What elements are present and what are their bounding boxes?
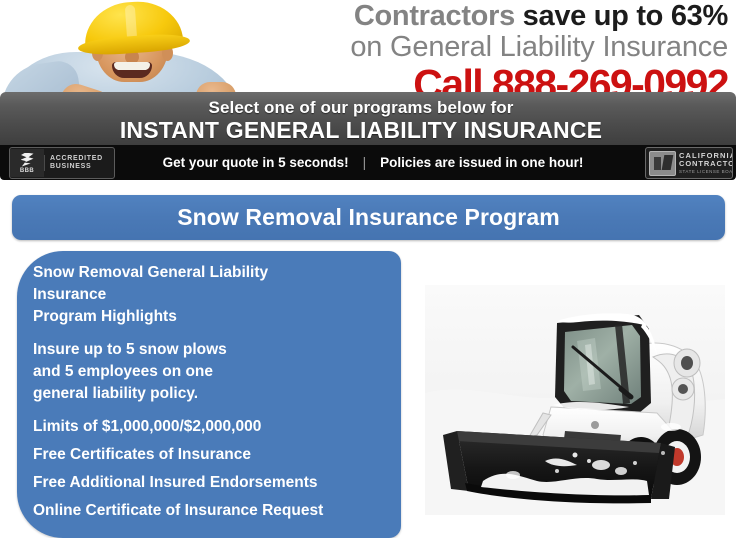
headline-contractors-text: Contractors (354, 0, 523, 32)
policy-speed-text: Policies are issued in one hour! (380, 155, 583, 170)
highlights-item-online-certificate: Online Certificate of Insurance Request (33, 500, 393, 522)
highlights-item-additional-insured: Free Additional Insured Endorsements (33, 472, 393, 494)
highlights-detail-line-1: Insure up to 5 snow plows (33, 339, 393, 361)
highlights-heading-line-3: Program Highlights (33, 306, 393, 328)
highlights-spacer-2 (33, 405, 393, 416)
bbb-badge-text: ACCREDITED BUSINESS (44, 155, 114, 171)
contractor-mouth (112, 62, 152, 78)
quote-speed-text: Get your quote in 5 seconds! (163, 155, 349, 170)
highlights-heading-line-2: Insurance (33, 284, 393, 306)
bbb-mark-text: BBB (20, 168, 34, 174)
contractor-teeth (114, 62, 150, 70)
instant-insurance-band: Select one of our programs below for INS… (0, 92, 736, 145)
bbb-accredited-text: ACCREDITED (50, 155, 114, 163)
header-headline: Contractors save up to 63% on General Li… (218, 2, 728, 106)
headline-line-2: on General Liability Insurance (218, 33, 728, 62)
highlights-detail-line-2: and 5 employees on one (33, 361, 393, 383)
california-contractors-badge[interactable]: CALIFORNIA CONTRACTORS STATE LICENSE BOA… (645, 147, 733, 179)
highlights-item-limits: Limits of $1,000,000/$2,000,000 (33, 416, 393, 438)
trust-strip-text: Get your quote in 5 seconds! | Policies … (118, 145, 628, 180)
page-title: Snow Removal Insurance Program (177, 204, 560, 231)
bbb-accredited-badge[interactable]: BBB ACCREDITED BUSINESS (9, 147, 115, 179)
bbb-torch-icon: BBB (10, 149, 44, 177)
band-heading: INSTANT GENERAL LIABILITY INSURANCE (0, 117, 722, 144)
band-subheading: Select one of our programs below for (0, 98, 722, 118)
cslb-line-license-board: STATE LICENSE BOARD (679, 169, 733, 174)
highlights-heading-line-1: Snow Removal General Liability (33, 262, 393, 284)
skid-steer-illustration (425, 285, 725, 515)
skid-steer-loader-photo (425, 285, 725, 515)
headline-savings-text: save up to 63% (523, 0, 728, 32)
program-title-bar[interactable]: Snow Removal Insurance Program (12, 195, 725, 240)
bbb-business-text: BUSINESS (50, 163, 114, 171)
footer-spacer (0, 538, 736, 552)
headline-line-1: Contractors save up to 63% (218, 2, 728, 31)
header-banner: Contractors save up to 63% on General Li… (0, 0, 736, 182)
bbb-torch-glyph (21, 153, 34, 167)
cslb-badge-text: CALIFORNIA CONTRACTORS STATE LICENSE BOA… (676, 152, 733, 174)
program-highlights-content: Snow Removal General Liability Insurance… (33, 262, 393, 522)
highlights-detail-line-3: general liability policy. (33, 383, 393, 405)
highlights-item-free-certificates: Free Certificates of Insurance (33, 444, 393, 466)
cslb-emblem-icon (649, 151, 676, 176)
highlights-spacer-1 (33, 328, 393, 339)
cslb-line-contractors: CONTRACTORS (679, 160, 733, 169)
program-highlights-panel: Snow Removal General Liability Insurance… (17, 251, 401, 538)
strip-divider: | (363, 155, 367, 170)
